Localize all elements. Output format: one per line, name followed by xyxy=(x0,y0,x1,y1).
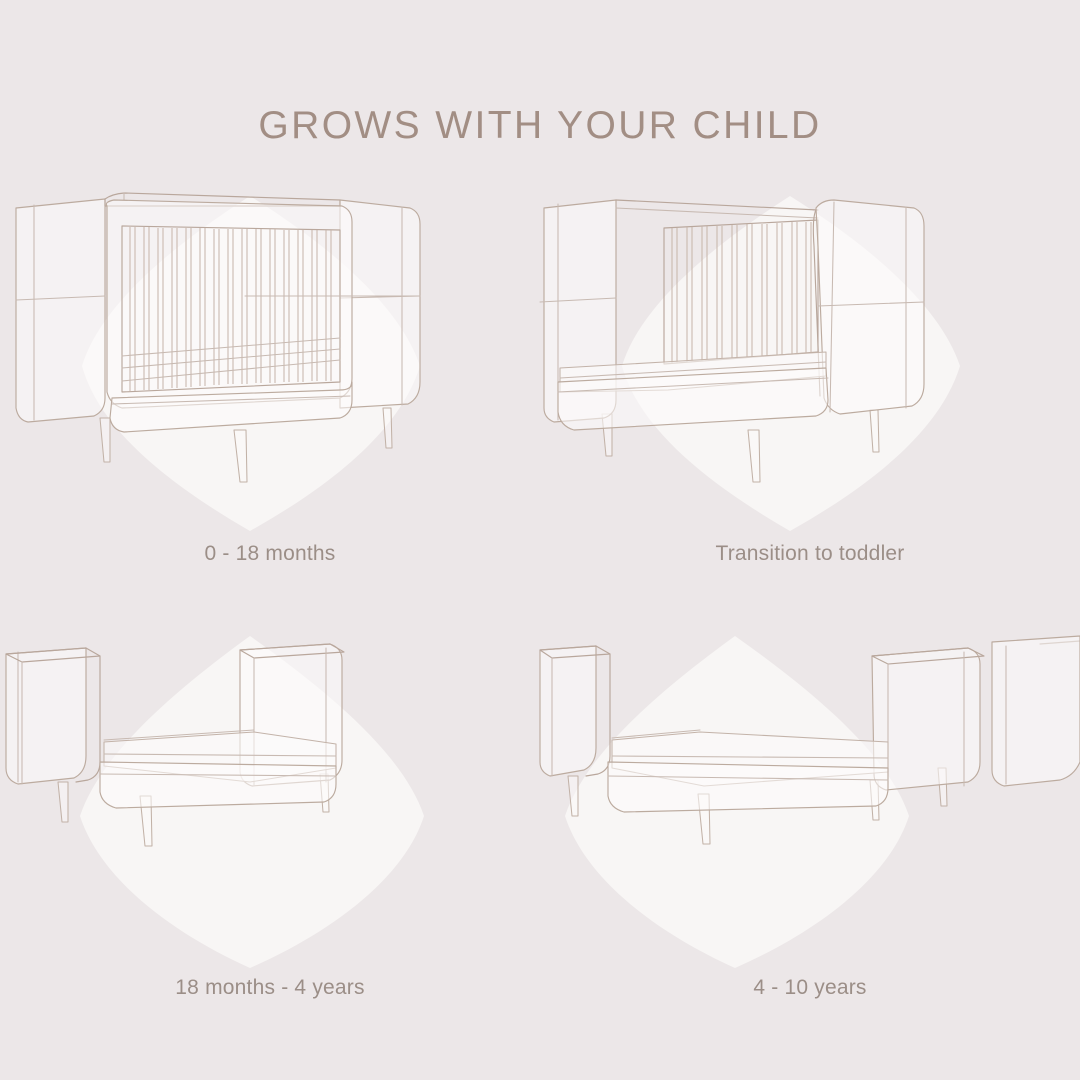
stage-caption-2: 18 months - 4 years xyxy=(0,976,540,1000)
grows-with-child-infographic: GROWS WITH YOUR CHILD xyxy=(0,0,1080,1080)
bed-far-right-panel-3 xyxy=(992,636,1080,786)
stage-grid: 0 - 18 months xyxy=(0,186,1080,1046)
crib-illustration-2 xyxy=(0,616,540,976)
stage-caption-1: Transition to toddler xyxy=(540,542,1080,566)
stage-caption-3: 4 - 10 years xyxy=(540,976,1080,1000)
bed-base-2 xyxy=(100,762,336,808)
stage-card-3: 4 - 10 years xyxy=(540,616,1080,1046)
crib-right-panel-1 xyxy=(813,200,924,414)
crib-illustration-3 xyxy=(540,616,1080,976)
crib-illustration-1 xyxy=(540,186,1080,546)
crib-illustration-0 xyxy=(0,186,540,546)
stage-card-2: 18 months - 4 years xyxy=(0,616,540,1046)
crib-back-panel-0 xyxy=(16,199,105,422)
crib-front-frame-0 xyxy=(106,200,352,408)
bed-left-panel-2 xyxy=(6,648,100,784)
page-title: GROWS WITH YOUR CHILD xyxy=(0,104,1080,148)
stage-caption-0: 0 - 18 months xyxy=(0,542,540,566)
stage-card-0: 0 - 18 months xyxy=(0,186,540,616)
bed-base-3 xyxy=(608,762,888,812)
stage-card-1: Transition to toddler xyxy=(540,186,1080,616)
